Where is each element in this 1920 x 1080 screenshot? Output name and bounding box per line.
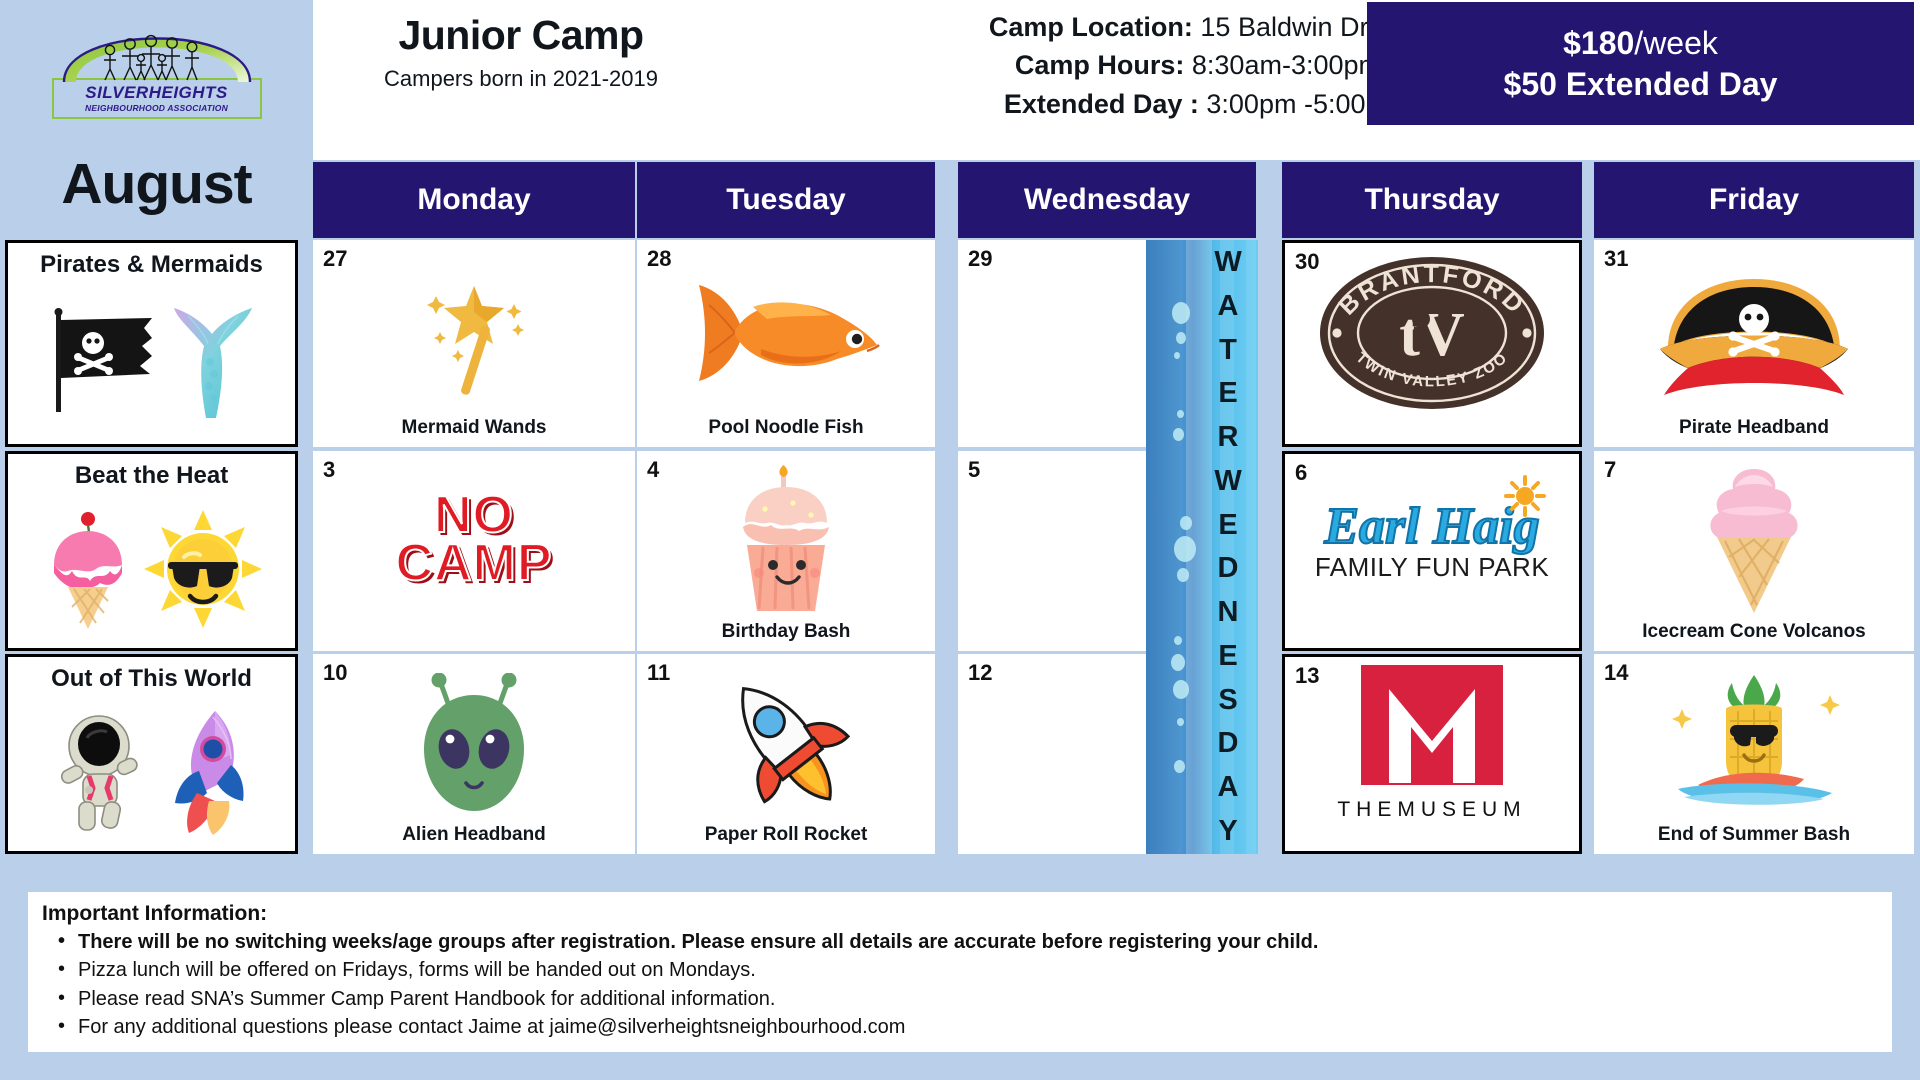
calendar-day-cell[interactable]: 10 Alien Headband xyxy=(313,654,635,854)
extended-day-label: Extended Day : xyxy=(1004,89,1199,119)
water-wednesday-letter: A xyxy=(1218,292,1239,321)
extended-day-line: Extended Day : 3:00pm -5:00pm xyxy=(713,85,1403,123)
theme-card-week-3: Out of This World xyxy=(5,654,298,854)
weekday-header-thursday: Thursday xyxy=(1282,162,1582,238)
header-bar: SILVERHEIGHTS NEIGHBOURHOOD ASSOCIATION … xyxy=(0,0,1920,160)
water-bubble xyxy=(1177,718,1184,726)
price-badge: $180/week $50 Extended Day xyxy=(1367,2,1914,125)
theme-artwork xyxy=(8,279,295,444)
water-wednesday-banner: WATERWEDNESDAY xyxy=(1146,240,1258,854)
water-wednesday-letter: S xyxy=(1218,686,1237,715)
calendar-day-cell[interactable]: 28 Pool Noodle Fish xyxy=(637,240,935,447)
important-information-list: There will be no switching weeks/age gro… xyxy=(42,928,1878,1042)
camp-hours-label: Camp Hours: xyxy=(1015,50,1185,80)
svg-text:tV: tV xyxy=(1399,301,1465,369)
theme-title: Out of This World xyxy=(51,665,252,693)
brantford-twin-valley-zoo-logo: BRANTFORD TWIN VALLEY ZOO tV xyxy=(1317,253,1547,413)
calendar-day-cell[interactable]: 27 Mermaid Wands xyxy=(313,240,635,447)
calendar-day-cell[interactable]: 30 BRANTFORD TWIN VALLEY ZOO tV xyxy=(1282,240,1582,447)
weekday-header-monday: Monday xyxy=(313,162,635,238)
day-activity-caption: Pool Noodle Fish xyxy=(637,417,935,439)
important-information-item: There will be no switching weeks/age gro… xyxy=(42,928,1878,956)
alien-head-icon xyxy=(406,673,542,813)
earl-haig-tagline: FAMILY FUN PARK xyxy=(1315,552,1549,583)
day-activity-caption: Alien Headband xyxy=(313,824,635,846)
water-bubble xyxy=(1171,654,1185,671)
important-information-item: Pizza lunch will be offered on Fridays, … xyxy=(42,956,1878,984)
no-camp-line-1: NO xyxy=(395,492,552,540)
calendar-day-cell[interactable]: 11 Paper Roll Rocket xyxy=(637,654,935,854)
camp-calendar-page: SILVERHEIGHTS NEIGHBOURHOOD ASSOCIATION … xyxy=(0,0,1920,1080)
camp-hours-line: Camp Hours: 8:30am-3:00pm xyxy=(713,46,1403,84)
water-bubble xyxy=(1174,636,1182,645)
water-bubble xyxy=(1174,760,1185,773)
day-artwork: NO CAMP xyxy=(313,463,635,617)
water-wednesday-letter: W xyxy=(1214,467,1241,496)
no-camp-line-2: CAMP xyxy=(395,540,552,588)
pirate-flag-icon xyxy=(48,308,160,416)
water-bubble xyxy=(1174,352,1180,359)
calendar-day-cell[interactable]: 6 Earl Haig FAMILY FUN PARK xyxy=(1282,451,1582,651)
water-wednesday-letter: R xyxy=(1218,423,1239,452)
themuseum-logo: THEMUSEUM xyxy=(1337,665,1526,822)
water-bubble xyxy=(1172,302,1190,324)
day-activity-caption: End of Summer Bash xyxy=(1594,824,1914,846)
calendar-day-cell[interactable]: 3 NO CAMP xyxy=(313,451,635,651)
important-information-title: Important Information: xyxy=(42,902,1878,926)
day-activity-caption: Pirate Headband xyxy=(1594,417,1914,439)
camp-details: Camp Location: 15 Baldwin Drive Camp Hou… xyxy=(713,8,1403,123)
goldfish-icon xyxy=(691,275,881,391)
mermaid-tail-icon xyxy=(170,306,256,418)
camp-hours-value: 8:30am-3:00pm xyxy=(1192,50,1381,80)
day-artwork: BRANTFORD TWIN VALLEY ZOO tV xyxy=(1285,255,1579,410)
day-artwork xyxy=(637,666,935,820)
month-label: August xyxy=(0,150,313,220)
important-information-box: Important Information: There will be no … xyxy=(28,892,1892,1052)
calendar-day-cell[interactable]: 14 xyxy=(1594,654,1914,854)
calendar-day-cell[interactable]: 7 Icecream Cone Volcanos xyxy=(1594,451,1914,651)
theme-title: Beat the Heat xyxy=(75,462,228,490)
water-bubble xyxy=(1180,516,1192,530)
day-number: 29 xyxy=(968,246,992,272)
water-bubble xyxy=(1176,332,1186,344)
magic-wand-icon xyxy=(414,268,534,398)
rocket-icon xyxy=(711,672,861,814)
calendar-day-cell[interactable]: 31 Pirate Headband xyxy=(1594,240,1914,447)
camp-location-label: Camp Location: xyxy=(989,12,1193,42)
day-artwork: Earl Haig FAMILY FUN PARK xyxy=(1285,466,1579,614)
theme-artwork xyxy=(8,693,295,851)
ice-cream-cone-icon xyxy=(42,509,134,629)
theme-title: Pirates & Mermaids xyxy=(40,251,263,279)
page-subtitle: Campers born in 2021-2019 xyxy=(321,66,721,92)
weekday-header-tuesday: Tuesday xyxy=(637,162,935,238)
price-weekly-unit: /week xyxy=(1634,25,1718,61)
theme-artwork xyxy=(8,490,295,648)
water-wednesday-label: WATERWEDNESDAY xyxy=(1206,248,1250,846)
day-activity-caption: Birthday Bash xyxy=(637,621,935,643)
weekday-header-row: Monday Tuesday Wednesday Thursday Friday xyxy=(313,162,1920,238)
water-bubble xyxy=(1174,536,1196,562)
logo-arc-graphic xyxy=(52,6,262,84)
water-bubble xyxy=(1173,428,1184,441)
water-wednesday-letter: E xyxy=(1218,379,1237,408)
pineapple-surfing-icon xyxy=(1654,673,1854,813)
calendar-day-cell[interactable]: 13 THEMUSEUM xyxy=(1282,654,1582,854)
price-extended-day: $50 Extended Day xyxy=(1504,66,1778,103)
rocket-icon xyxy=(163,709,255,835)
day-activity-caption: Mermaid Wands xyxy=(313,417,635,439)
day-artwork xyxy=(313,666,635,820)
day-artwork xyxy=(637,463,935,617)
day-artwork: THEMUSEUM xyxy=(1285,669,1579,817)
pirate-hat-icon xyxy=(1654,269,1854,397)
water-bubble xyxy=(1177,568,1189,582)
astronaut-icon xyxy=(49,710,153,834)
water-wednesday-letter: T xyxy=(1219,336,1237,365)
water-wednesday-letter: E xyxy=(1218,642,1237,671)
day-artwork xyxy=(637,252,935,413)
water-wednesday-letter: W xyxy=(1214,248,1241,277)
price-weekly-amount: $180 xyxy=(1563,25,1634,61)
themuseum-wordmark: THEMUSEUM xyxy=(1337,798,1526,822)
water-wednesday-letter: D xyxy=(1218,729,1239,758)
day-artwork xyxy=(1594,252,1914,413)
logo-wordmark: SILVERHEIGHTS NEIGHBOURHOOD ASSOCIATION xyxy=(52,78,262,119)
soft-serve-icon xyxy=(1695,465,1813,615)
day-activity-caption: Icecream Cone Volcanos xyxy=(1594,621,1914,643)
sun-sunglasses-icon xyxy=(144,510,262,628)
water-bubble xyxy=(1173,680,1189,699)
page-title: Junior Camp xyxy=(321,12,721,59)
water-wednesday-letter: N xyxy=(1218,598,1239,627)
day-artwork xyxy=(1594,666,1914,820)
price-weekly: $180/week xyxy=(1563,25,1718,62)
logo-name-secondary: NEIGHBOURHOOD ASSOCIATION xyxy=(56,103,258,113)
day-artwork xyxy=(1594,463,1914,617)
day-artwork xyxy=(313,252,635,413)
cupcake-icon xyxy=(721,465,851,615)
important-information-item: Please read SNA’s Summer Camp Parent Han… xyxy=(42,985,1878,1013)
earl-haig-family-fun-park-logo: Earl Haig FAMILY FUN PARK xyxy=(1315,497,1549,583)
theme-card-week-1: Pirates & Mermaids xyxy=(5,240,298,447)
sun-icon xyxy=(1504,475,1546,517)
logo-name-primary: SILVERHEIGHTS xyxy=(56,83,258,103)
water-wednesday-letter: Y xyxy=(1218,817,1237,846)
water-wednesday-letter: A xyxy=(1218,773,1239,802)
weekday-header-friday: Friday xyxy=(1594,162,1914,238)
camp-location-line: Camp Location: 15 Baldwin Drive xyxy=(713,8,1403,46)
water-wednesday-letter: E xyxy=(1218,511,1237,540)
water-wednesday-letter: D xyxy=(1218,554,1239,583)
day-number: 12 xyxy=(968,660,992,686)
theme-card-week-2: Beat the Heat xyxy=(5,451,298,651)
logo-arch-icon xyxy=(52,6,262,84)
weekday-header-wednesday: Wednesday xyxy=(958,162,1256,238)
no-camp-graphic: NO CAMP xyxy=(395,492,552,588)
themuseum-m-mark xyxy=(1361,665,1503,785)
calendar-day-cell[interactable]: 4 Birthday Bash xyxy=(637,451,935,651)
important-information-item: For any additional questions please cont… xyxy=(42,1013,1878,1041)
day-activity-caption: Paper Roll Rocket xyxy=(637,824,935,846)
calendar-grid: Pirates & Mermaids xyxy=(0,240,1920,870)
day-number: 5 xyxy=(968,457,980,483)
organization-logo: SILVERHEIGHTS NEIGHBOURHOOD ASSOCIATION xyxy=(0,0,313,160)
water-bubble xyxy=(1177,410,1184,418)
